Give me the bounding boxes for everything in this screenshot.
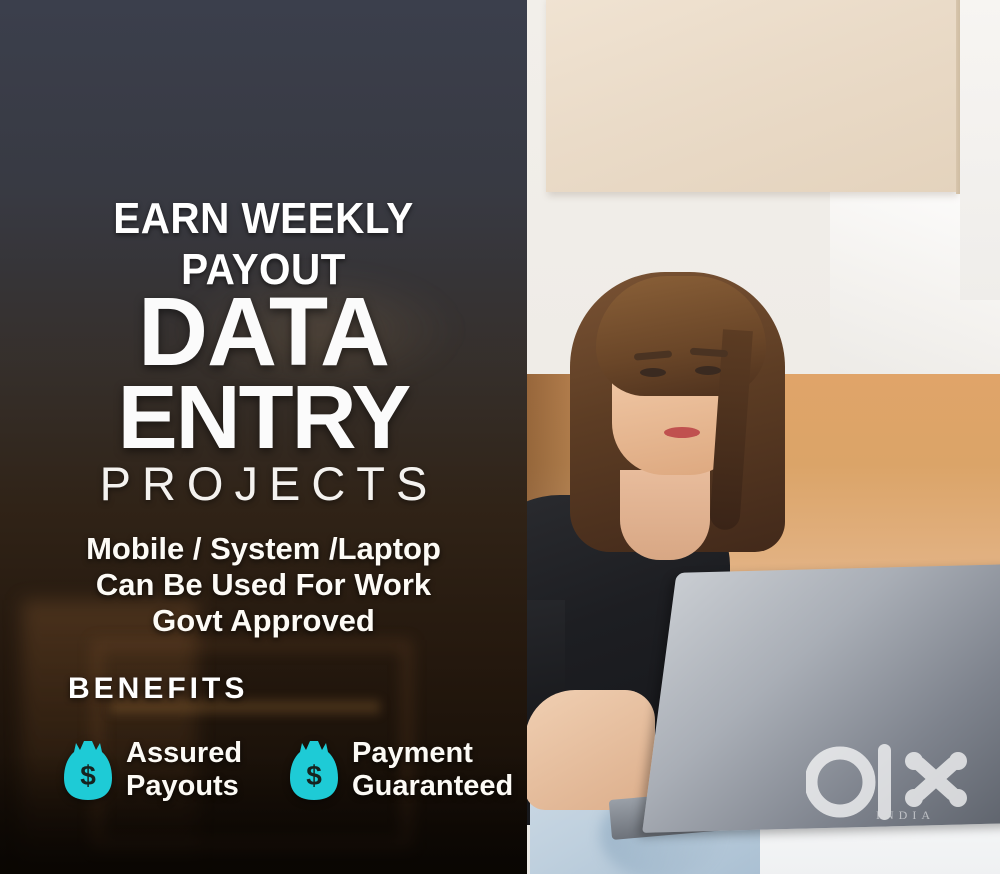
- benefits-heading: BENEFITS: [68, 672, 248, 706]
- headline-line-1: EARN WEEKLY: [21, 193, 506, 244]
- svg-text:$: $: [306, 760, 322, 791]
- advertisement-image: INDIA EARN WEEKLY PAYOUT DATA ENTRY PROJ…: [0, 0, 1000, 874]
- benefit-item-payment-guaranteed: $ Payment Guaranteed: [288, 737, 513, 803]
- ad-copy: EARN WEEKLY PAYOUT DATA ENTRY PROJECTS M…: [0, 0, 1000, 874]
- subtext: Mobile / System /Laptop Can Be Used For …: [0, 531, 527, 639]
- subtext-line-3: Govt Approved: [0, 603, 527, 639]
- svg-text:$: $: [80, 760, 96, 791]
- benefit-line-2: Payouts: [126, 770, 242, 803]
- benefit-label-assured-payouts: Assured Payouts: [126, 737, 242, 803]
- subtext-line-1: Mobile / System /Laptop: [0, 531, 527, 567]
- title-projects: PROJECTS: [0, 459, 527, 509]
- benefits-list: $ Assured Payouts $ Payment Guara: [62, 737, 513, 803]
- benefit-item-assured-payouts: $ Assured Payouts: [62, 737, 242, 803]
- money-bag-icon: $: [62, 738, 114, 802]
- title-data: DATA: [0, 283, 527, 380]
- title-entry: ENTRY: [0, 373, 527, 463]
- benefit-line-1: Assured: [126, 737, 242, 770]
- money-bag-icon: $: [288, 738, 340, 802]
- benefit-label-payment-guaranteed: Payment Guaranteed: [352, 737, 513, 803]
- benefit-line-1: Payment: [352, 737, 513, 770]
- subtext-line-2: Can Be Used For Work: [0, 567, 527, 603]
- benefit-line-2: Guaranteed: [352, 770, 513, 803]
